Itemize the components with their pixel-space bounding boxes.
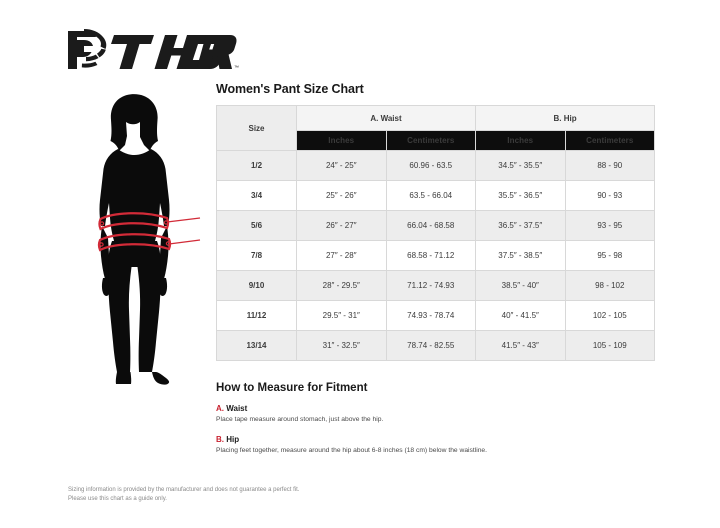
women-silhouette-icon [72,92,212,392]
cell-hip-cm: 88 - 90 [565,151,655,181]
header-hip-centimeters: Centimeters [565,131,655,151]
header-waist-centimeters: Centimeters [386,131,476,151]
measure-item-description: Placing feet together, measure around th… [216,447,656,456]
table-row: 3/4 25″ - 26″ 63.5 - 66.04 35.5″ - 36.5″… [217,181,655,211]
cell-waist-in: 31″ - 32.5″ [297,331,387,361]
measure-item-waist: A. Waist Place tape measure around stoma… [216,404,656,425]
cell-hip-in: 36.5″ - 37.5″ [476,211,566,241]
cell-size: 3/4 [217,181,297,211]
header-size: Size [217,106,297,151]
header-hip-inches: Inches [476,131,566,151]
leader-line-a [167,218,200,222]
measure-item-hip: B. Hip Placing feet together, measure ar… [216,435,656,456]
cell-waist-cm: 60.96 - 63.5 [386,151,476,181]
cell-hip-in: 35.5″ - 36.5″ [476,181,566,211]
table-row: 13/14 31″ - 32.5″ 78.74 - 82.55 41.5″ - … [217,331,655,361]
cell-waist-cm: 78.74 - 82.55 [386,331,476,361]
thor-helmet-icon: ™ [62,27,242,73]
cell-waist-cm: 68.58 - 71.12 [386,241,476,271]
cell-hip-in: 37.5″ - 38.5″ [476,241,566,271]
how-to-measure-title: How to Measure for Fitment [216,382,656,394]
table-row: 11/12 29.5″ - 31″ 74.93 - 78.74 40″ - 41… [217,301,655,331]
cell-hip-in: 38.5″ - 40″ [476,271,566,301]
disclaimer: Sizing information is provided by the ma… [68,486,299,505]
table-row: 9/10 28″ - 29.5″ 71.12 - 74.93 38.5″ - 4… [217,271,655,301]
cell-waist-in: 28″ - 29.5″ [297,271,387,301]
cell-waist-in: 29.5″ - 31″ [297,301,387,331]
measure-item-description: Place tape measure around stomach, just … [216,416,656,425]
body-silhouette-illustration: A B [72,92,212,392]
header-waist-inches: Inches [297,131,387,151]
cell-waist-cm: 71.12 - 74.93 [386,271,476,301]
table-row: 7/8 27″ - 28″ 68.58 - 71.12 37.5″ - 38.5… [217,241,655,271]
cell-hip-in: 34.5″ - 35.5″ [476,151,566,181]
measure-item-name: Hip [226,435,239,444]
thor-logo: ™ [62,26,242,74]
measure-item-letter: B. [216,435,224,444]
cell-waist-cm: 74.93 - 78.74 [386,301,476,331]
cell-waist-in: 26″ - 27″ [297,211,387,241]
disclaimer-line-1: Sizing information is provided by the ma… [68,486,299,495]
measure-item-heading: A. Waist [216,404,656,413]
header-group-hip: B. Hip [476,106,655,131]
table-header-row-groups: Size A. Waist B. Hip [217,106,655,131]
cell-waist-cm: 66.04 - 68.58 [386,211,476,241]
cell-waist-in: 24″ - 25″ [297,151,387,181]
measure-item-name: Waist [226,404,247,413]
how-to-measure-section: How to Measure for Fitment A. Waist Plac… [216,382,656,465]
cell-hip-in: 41.5″ - 43″ [476,331,566,361]
table-body: 1/2 24″ - 25″ 60.96 - 63.5 34.5″ - 35.5″… [217,151,655,361]
cell-hip-cm: 105 - 109 [565,331,655,361]
table-row: 1/2 24″ - 25″ 60.96 - 63.5 34.5″ - 35.5″… [217,151,655,181]
disclaimer-line-2: Please use this chart as a guide only. [68,495,299,504]
table-header: Size A. Waist B. Hip Inches Centimeters … [217,106,655,151]
cell-size: 13/14 [217,331,297,361]
cell-hip-cm: 93 - 95 [565,211,655,241]
cell-size: 11/12 [217,301,297,331]
cell-waist-in: 25″ - 26″ [297,181,387,211]
cell-size: 1/2 [217,151,297,181]
cell-hip-cm: 90 - 93 [565,181,655,211]
table-row: 5/6 26″ - 27″ 66.04 - 68.58 36.5″ - 37.5… [217,211,655,241]
page-title: Women's Pant Size Chart [216,82,364,96]
size-chart-table-container: Size A. Waist B. Hip Inches Centimeters … [216,105,654,361]
svg-text:™: ™ [234,65,239,71]
cell-hip-cm: 95 - 98 [565,241,655,271]
cell-waist-in: 27″ - 28″ [297,241,387,271]
measure-item-heading: B. Hip [216,435,656,444]
size-chart-table: Size A. Waist B. Hip Inches Centimeters … [216,105,655,361]
header-group-waist: A. Waist [297,106,476,131]
cell-hip-cm: 102 - 105 [565,301,655,331]
size-chart-page: ™ [0,0,720,528]
measure-item-letter: A. [216,404,224,413]
cell-size: 9/10 [217,271,297,301]
cell-hip-in: 40″ - 41.5″ [476,301,566,331]
cell-size: 5/6 [217,211,297,241]
leader-line-b [169,240,200,244]
cell-size: 7/8 [217,241,297,271]
cell-hip-cm: 98 - 102 [565,271,655,301]
cell-waist-cm: 63.5 - 66.04 [386,181,476,211]
